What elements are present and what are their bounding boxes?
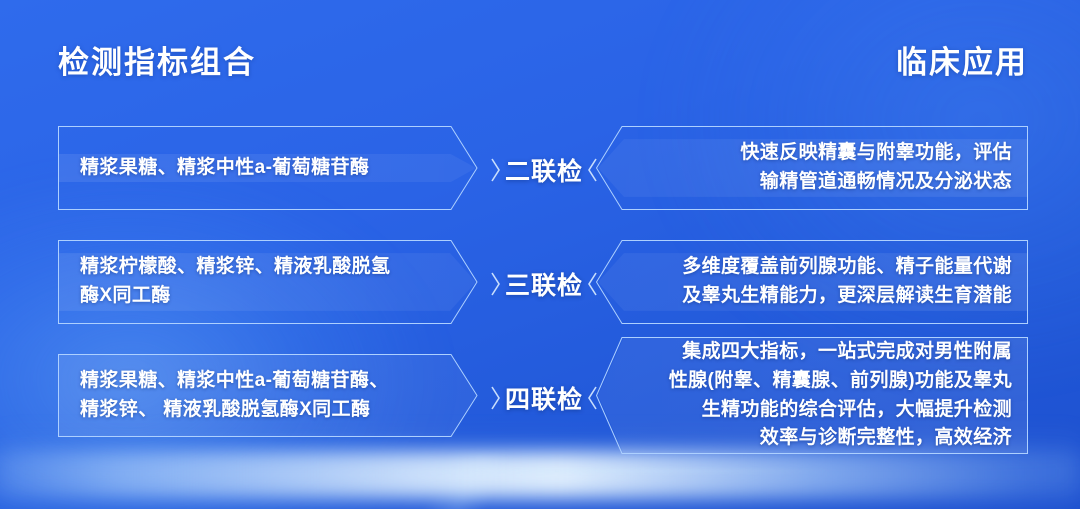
indicator-line: 精浆锌、 精液乳酸脱氢酶X同工酶 [80, 399, 370, 420]
chevron-left-icon [587, 385, 597, 411]
page-title-left: 检测指标组合 [58, 44, 256, 81]
application-line: 输精管道通畅情况及分泌状态 [760, 171, 1012, 192]
indicator-box-duo[interactable]: 精浆果糖、精浆中性a-葡萄糖苷酶 [58, 154, 476, 183]
background-light-band [0, 452, 1080, 498]
indicator-box-quad[interactable]: 精浆果糖、精浆中性a-葡萄糖苷酶、 精浆锌、 精液乳酸脱氢酶X同工酶 [58, 354, 476, 437]
indicator-line: 酶X同工酶 [80, 285, 171, 306]
application-line: 性腺(附睾、精囊腺、前列腺)功能及睾丸 [669, 370, 1012, 391]
indicator-line: 精浆果糖、精浆中性a-葡萄糖苷酶、 [80, 370, 389, 391]
indicator-line: 精浆柠檬酸、精浆锌、精液乳酸脱氢 [80, 256, 390, 277]
background-highlight-streak [360, 470, 840, 472]
application-line: 及睾丸生精能力，更深层解读生育潜能 [682, 285, 1012, 306]
connector-label-text: 四联检 [505, 380, 583, 416]
application-line: 集成四大指标，一站式完成对男性附属 [682, 341, 1012, 362]
chevron-right-icon [491, 271, 501, 297]
application-box-trio[interactable]: 多维度覆盖前列腺功能、精子能量代谢 及睾丸生精能力，更深层解读生育潜能 [598, 253, 1028, 311]
chevron-left-icon [587, 271, 597, 297]
chevron-right-icon [491, 157, 501, 183]
application-line: 多维度覆盖前列腺功能、精子能量代谢 [682, 256, 1012, 277]
chevron-left-icon [587, 157, 597, 183]
indicator-text-trio: 精浆柠檬酸、精浆锌、精液乳酸脱氢 酶X同工酶 [80, 253, 476, 311]
connector-label-quad: 四联检 [480, 380, 608, 416]
indicator-box-trio[interactable]: 精浆柠檬酸、精浆锌、精液乳酸脱氢 酶X同工酶 [58, 253, 476, 311]
connector-label-duo: 二联检 [480, 152, 608, 188]
application-line: 生精功能的综合评估，大幅提升检测 [702, 399, 1012, 420]
slide-root: 检测指标组合 临床应用 精浆果糖、精浆中性a-葡萄糖苷酶 快速反映精囊与附睾功能… [0, 0, 1080, 509]
connector-label-trio: 三联检 [480, 266, 608, 302]
connector-label-text: 三联检 [505, 266, 583, 302]
connector-label-text: 二联检 [505, 152, 583, 188]
application-text-trio: 多维度覆盖前列腺功能、精子能量代谢 及睾丸生精能力，更深层解读生育潜能 [636, 253, 1012, 311]
indicator-text-quad: 精浆果糖、精浆中性a-葡萄糖苷酶、 精浆锌、 精液乳酸脱氢酶X同工酶 [80, 367, 476, 425]
application-text-duo: 快速反映精囊与附睾功能，评估 输精管道通畅情况及分泌状态 [636, 139, 1012, 197]
indicator-text-duo: 精浆果糖、精浆中性a-葡萄糖苷酶 [80, 154, 476, 183]
application-box-quad[interactable]: 集成四大指标，一站式完成对男性附属 性腺(附睾、精囊腺、前列腺)功能及睾丸 生精… [598, 337, 1028, 454]
page-title-right: 临床应用 [896, 44, 1028, 81]
application-text-quad: 集成四大指标，一站式完成对男性附属 性腺(附睾、精囊腺、前列腺)功能及睾丸 生精… [636, 338, 1012, 454]
application-box-duo[interactable]: 快速反映精囊与附睾功能，评估 输精管道通畅情况及分泌状态 [598, 139, 1028, 197]
chevron-right-icon [491, 385, 501, 411]
application-line: 效率与诊断完整性，高效经济 [760, 427, 1012, 448]
application-line: 快速反映精囊与附睾功能，评估 [740, 142, 1012, 163]
